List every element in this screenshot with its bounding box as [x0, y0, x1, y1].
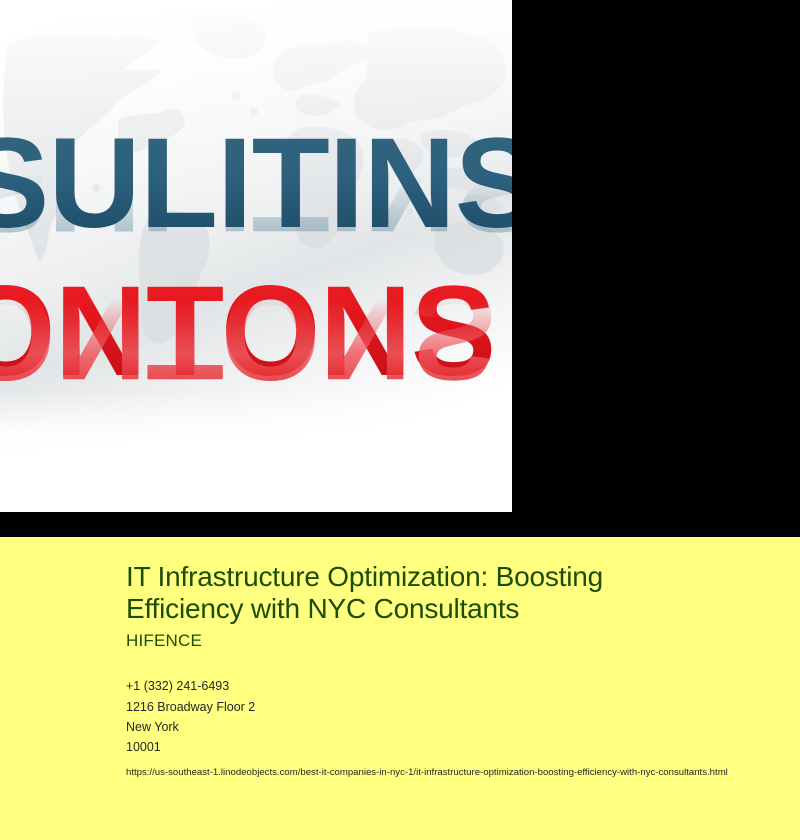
contact-phone: +1 (332) 241-6493: [126, 676, 780, 696]
source-url[interactable]: https://us-southeast-1.linodeobjects.com…: [126, 763, 786, 783]
hero-word-top: SULITINS: [0, 120, 512, 248]
info-card: IT Infrastructure Optimization: Boosting…: [0, 537, 800, 840]
article-card-page: SULITINS SULITINS ONTONS ONTONS IT Infra…: [0, 0, 800, 840]
contact-street: 1216 Broadway Floor 2: [126, 697, 780, 717]
hero-floor-gradient: [0, 389, 512, 512]
page-title: IT Infrastructure Optimization: Boosting…: [126, 561, 704, 624]
company-name: HIFENCE: [126, 631, 780, 651]
hero-image: SULITINS SULITINS ONTONS ONTONS: [0, 0, 512, 512]
contact-city: New York: [126, 717, 780, 737]
contact-block: +1 (332) 241-6493 1216 Broadway Floor 2 …: [126, 676, 780, 757]
contact-postal-code: 10001: [126, 737, 780, 757]
hero-word-bottom-reflection: ONTONS: [0, 270, 495, 398]
